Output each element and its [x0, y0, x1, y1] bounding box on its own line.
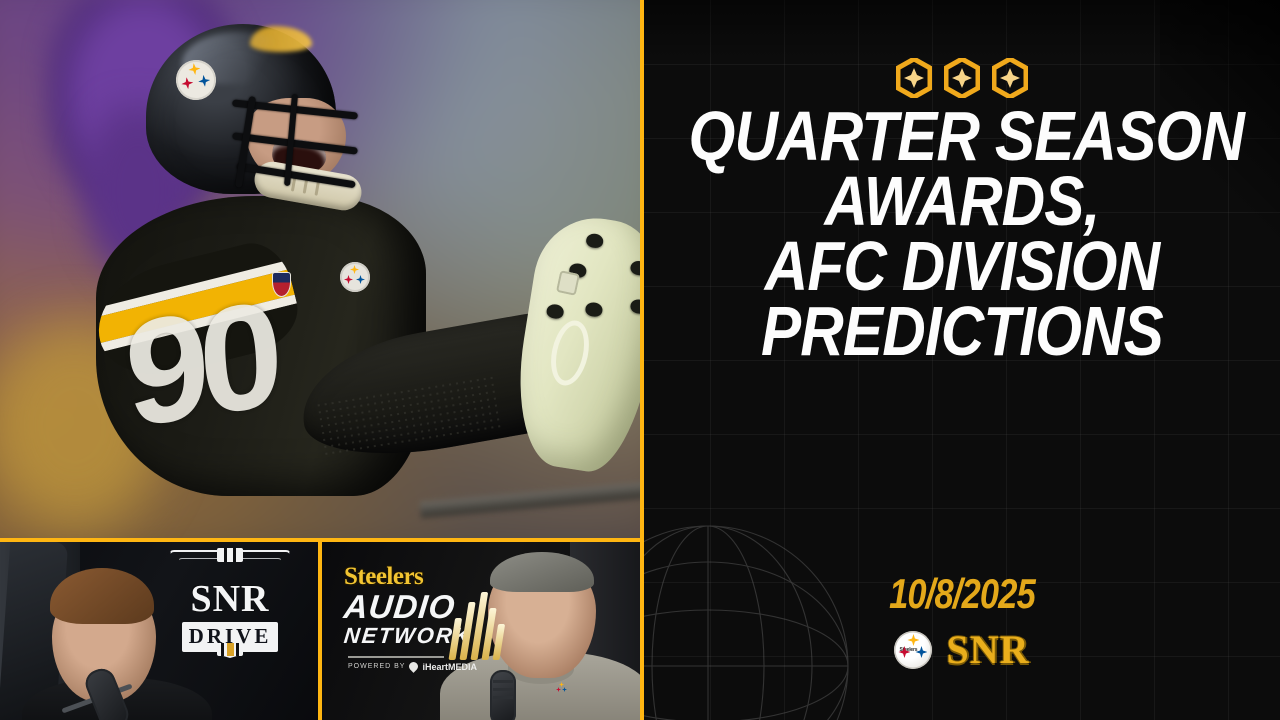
snr-drive-logo: SNR DRIVE: [168, 550, 292, 658]
steelers-logo-patch: [340, 262, 370, 292]
title-block: QUARTER SEASON AWARDS, AFC DIVISION PRED…: [644, 104, 1280, 364]
hex-icon-row: [644, 58, 1280, 98]
title-line-3: AFC DIVISION: [689, 234, 1236, 299]
left-column: 90: [0, 0, 640, 720]
panel-snr-drive: SNR DRIVE: [0, 542, 318, 720]
shield-top-tab: [217, 548, 243, 562]
hex-sparkle-icon: [992, 58, 1028, 98]
san-word-steelers: Steelers: [344, 564, 504, 589]
hex-sparkle-icon: [896, 58, 932, 98]
jersey-number: 90: [121, 278, 291, 452]
steelers-logo: Steelers: [894, 631, 932, 669]
powered-by-row: POWERED BY iHeartMEDIA: [348, 662, 504, 672]
sideline-blur: [420, 482, 640, 518]
hex-sparkle-icon: [944, 58, 980, 98]
globe-wireframe-graphic: [644, 516, 858, 720]
panel-steelers-audio-network: Steelers AUDIO NETWORK POWERED BY iHeart…: [322, 542, 640, 720]
title-line-4: PREDICTIONS: [689, 299, 1236, 364]
thumbnail-canvas: 90: [0, 0, 1280, 720]
steelers-audio-network-logo: Steelers AUDIO NETWORK POWERED BY iHeart…: [344, 564, 504, 684]
snr-brand-wordmark: SNR: [946, 630, 1029, 670]
iheart-icon: [408, 660, 421, 673]
snr-drive-primary-label: SNR: [168, 580, 292, 618]
steelers-lapel-pin: [556, 682, 567, 693]
title-line-1: QUARTER SEASON: [689, 104, 1236, 169]
host-panels-row: SNR DRIVE: [0, 538, 640, 720]
powered-by-label: POWERED BY: [348, 663, 405, 670]
brand-row: Steelers SNR: [644, 630, 1280, 670]
logo-divider: [348, 656, 444, 658]
hero-photo: 90: [0, 0, 640, 538]
helmet-facemask: [236, 96, 360, 188]
title-panel: QUARTER SEASON AWARDS, AFC DIVISION PRED…: [644, 0, 1280, 720]
powered-by-brand: iHeartMEDIA: [422, 662, 477, 672]
title-line-2: AWARDS,: [689, 169, 1236, 234]
episode-date: 10/8/2025: [701, 570, 1223, 618]
shield-bottom-tab: [217, 643, 243, 656]
steelers-player: 90: [0, 0, 640, 538]
audio-waveform-icon: [448, 590, 511, 660]
